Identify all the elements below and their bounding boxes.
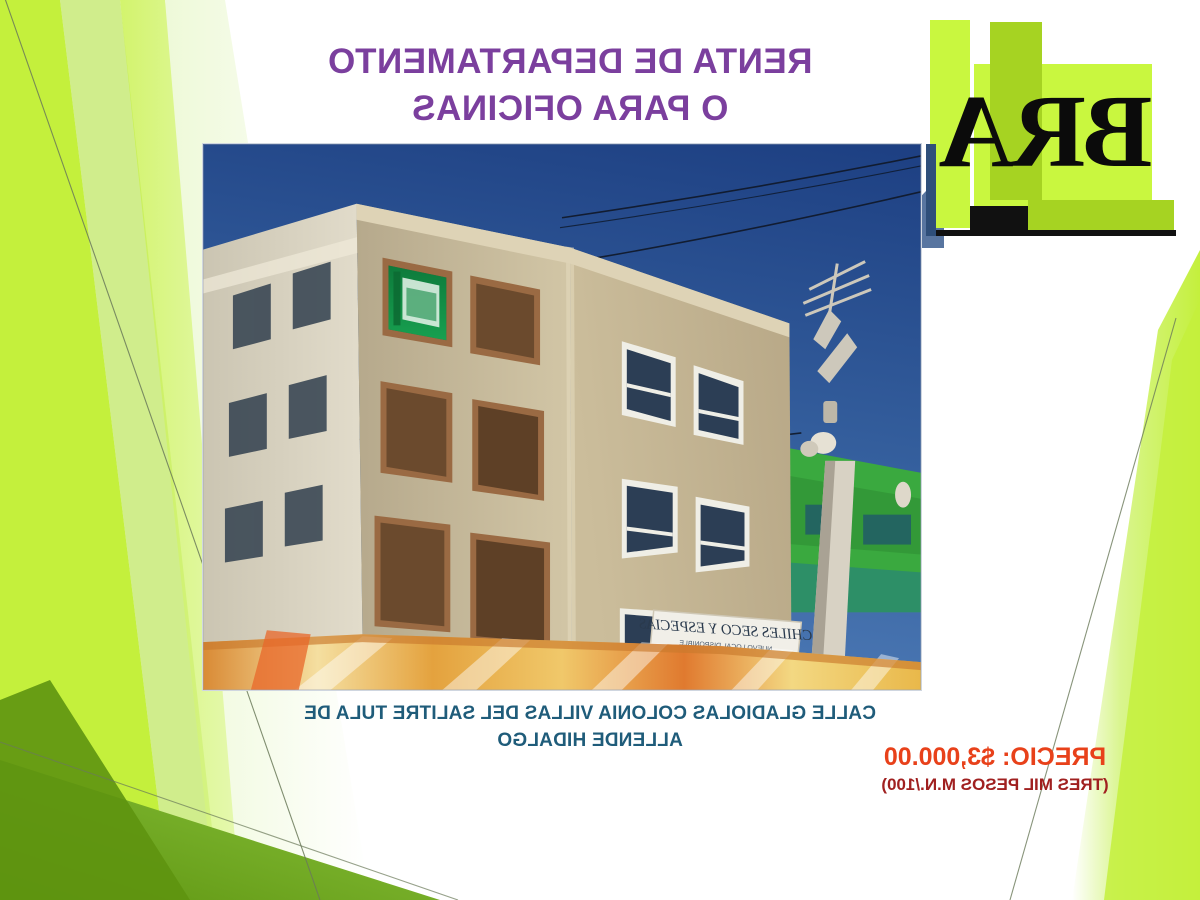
logo-shape-bottom-bar — [1028, 200, 1174, 232]
price-block: PRECIO: $3,000.00 (TRES MIL PESOS M.N./1… — [830, 742, 1160, 797]
slide-title: RENTA DE DEPARTAMENTO O PARA OFICINAS — [240, 38, 900, 132]
price-amount: PRECIO: $3,000.00 — [830, 742, 1160, 773]
title-line-2: O PARA OFICINAS — [240, 85, 900, 132]
logo-shape-baseline — [930, 230, 1176, 236]
property-photo: CHILES SECO Y ESPECIAS NUEVO LOCAL DISPO… — [202, 143, 922, 691]
caption-line-1: CALLE GLADIOLAS COLONIA VILLAS DEL SALIT… — [220, 700, 960, 727]
price-in-words: (TRES MIL PESOS M.N./100) — [830, 773, 1160, 797]
company-logo: BRA — [924, 14, 1182, 240]
mirrored-slide-content: BRA RENTA DE DEPARTAMENTO O PARA OFICINA… — [0, 0, 1200, 900]
slide-canvas: BRA RENTA DE DEPARTAMENTO O PARA OFICINA… — [0, 0, 1200, 900]
title-line-1: RENTA DE DEPARTAMENTO — [240, 38, 900, 85]
logo-wordmark: BRA — [922, 72, 1172, 192]
